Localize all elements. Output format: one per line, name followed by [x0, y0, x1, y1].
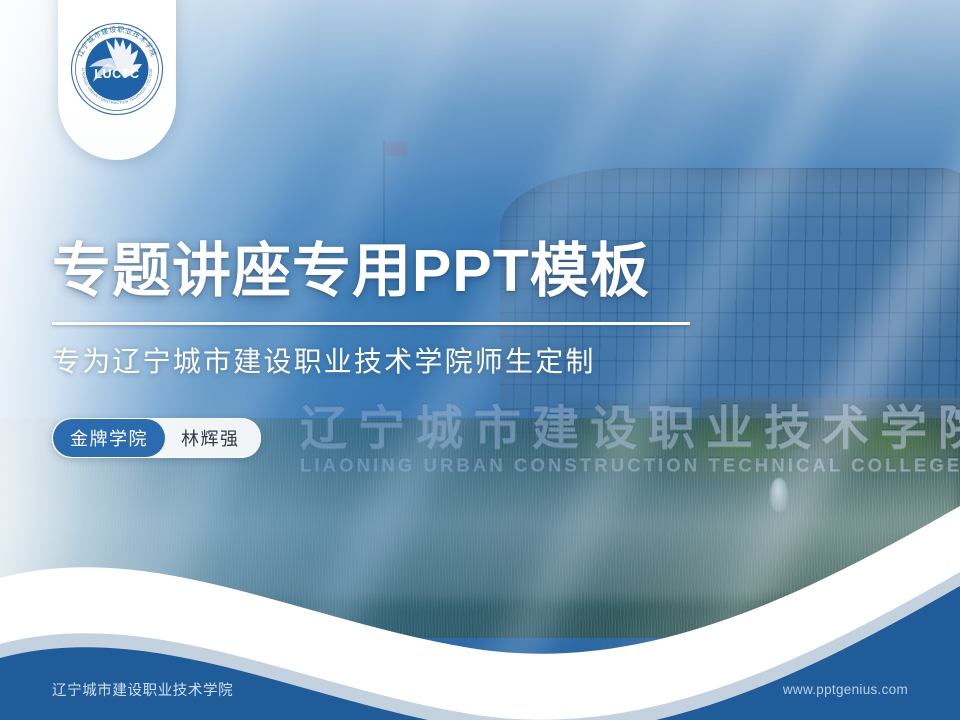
luctc-seal-icon: LUCTC 辽宁城市建设职业技术学院 LIAONING URBAN CONSTR… [70, 22, 164, 116]
presentation-title-slide: 辽宁城市建设职业技术学院 LIAONING URBAN CONSTRUCTION… [0, 0, 960, 720]
hero-content: 专题讲座专用PPT模板 专为辽宁城市建设职业技术学院师生定制 金牌学院 林辉强 [52, 238, 752, 458]
footer-website: www.pptgenius.com [783, 682, 908, 697]
slide-footer: 辽宁城市建设职业技术学院 www.pptgenius.com [0, 658, 960, 720]
page-title: 专题讲座专用PPT模板 [52, 238, 752, 304]
title-divider [52, 322, 690, 325]
presenter-badge: 金牌学院 林辉强 [52, 418, 261, 458]
footer-school-name: 辽宁城市建设职业技术学院 [52, 679, 233, 700]
badge-tag-label: 金牌学院 [53, 419, 165, 457]
logo-badge: LUCTC 辽宁城市建设职业技术学院 LIAONING URBAN CONSTR… [58, 0, 176, 160]
luctc-abbreviation: LUCTC [94, 67, 139, 81]
page-subtitle: 专为辽宁城市建设职业技术学院师生定制 [52, 344, 752, 380]
presenter-name: 林辉强 [165, 419, 260, 457]
